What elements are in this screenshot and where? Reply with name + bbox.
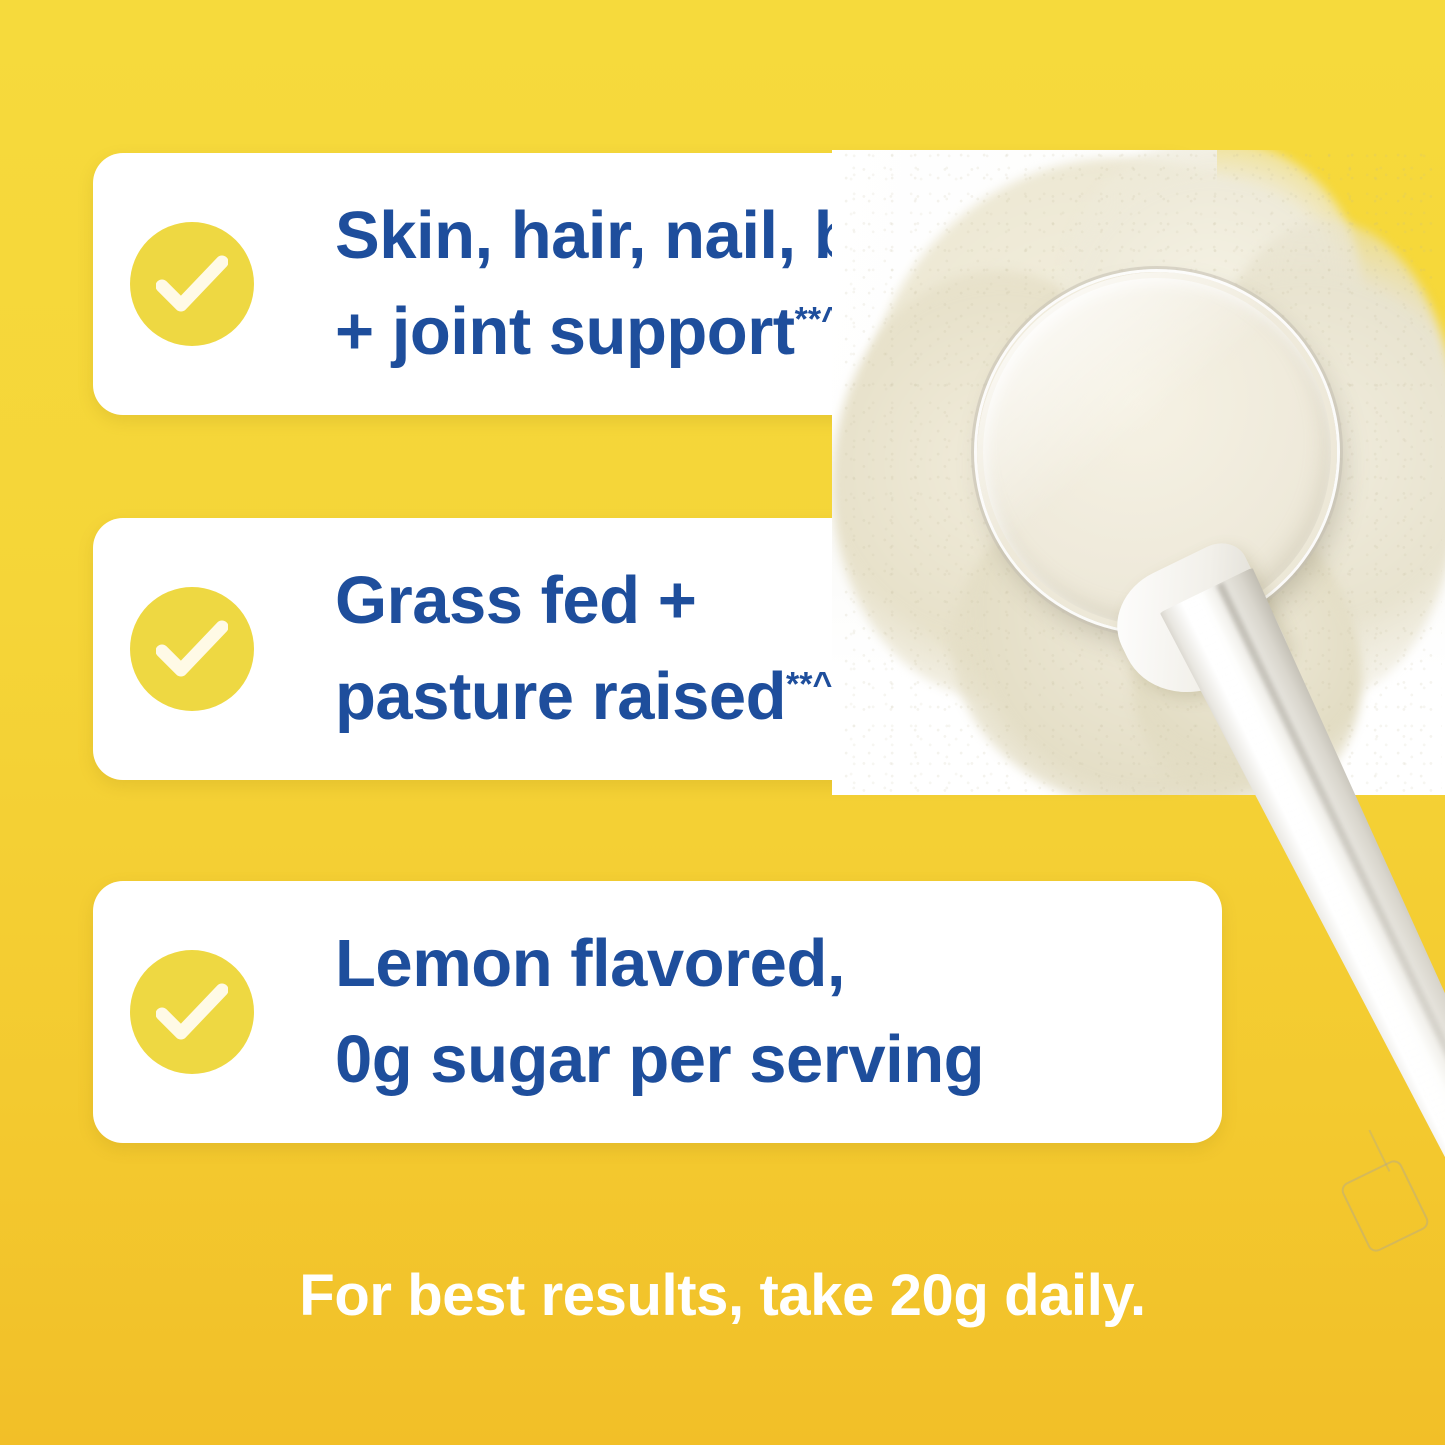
product-benefits-graphic: Skin, hair, nail, bone + joint support**…	[0, 0, 1445, 1445]
benefit-line-2: 0g sugar per serving	[335, 1012, 984, 1108]
dosage-note: For best results, take 20g daily.	[0, 1262, 1445, 1329]
benefit-superscript: **^	[786, 666, 832, 704]
check-icon	[130, 222, 254, 346]
benefit-line-1: Lemon flavored,	[335, 916, 984, 1012]
benefit-line-1: Grass fed +	[335, 553, 832, 649]
benefit-text: Lemon flavored, 0g sugar per serving	[335, 916, 984, 1108]
benefit-line-2: pasture raised**^	[335, 649, 832, 745]
check-icon	[130, 587, 254, 711]
powder-photo	[832, 150, 1445, 795]
benefit-text: Grass fed + pasture raised**^	[335, 553, 832, 745]
benefit-card: Lemon flavored, 0g sugar per serving	[93, 881, 1222, 1143]
scoop-handle-emboss-mark-icon	[1368, 1126, 1397, 1172]
scoop-handle-emboss-icon	[1339, 1157, 1432, 1254]
check-icon	[130, 950, 254, 1074]
